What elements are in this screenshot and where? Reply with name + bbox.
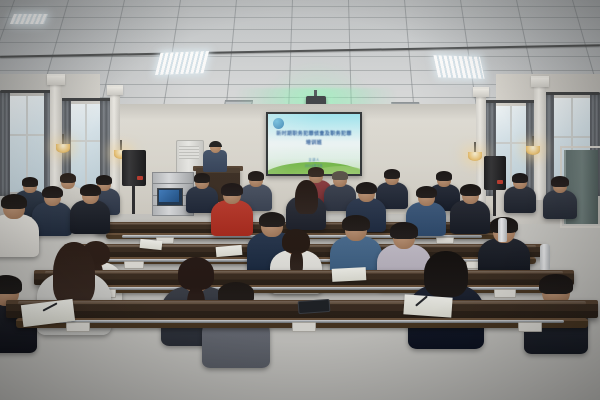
conference-hall-photo: 新时期职务犯罪侦查及职务犯罪 培训班 主讲人 2016年5月 bbox=[0, 0, 600, 400]
attendee-denim-blue-hair bbox=[342, 215, 369, 231]
attendee-back-11-body bbox=[543, 190, 577, 219]
attendee-dark-left-edge-hair bbox=[0, 275, 22, 295]
presenter-hair bbox=[209, 141, 222, 147]
attendee-back-3-hair bbox=[96, 175, 113, 185]
attendee-back-11-hair bbox=[551, 176, 569, 187]
attendee-navy-3-hair bbox=[356, 182, 377, 195]
attendee-suit-left-hair bbox=[42, 186, 63, 199]
wall-sconce-lamp bbox=[468, 152, 482, 161]
attendee-back-4-hair bbox=[194, 173, 211, 183]
attendee-right-edge-dark-hair bbox=[539, 274, 573, 294]
wall-pilaster bbox=[110, 88, 120, 204]
bench-nameplate bbox=[292, 322, 316, 332]
window-curtain bbox=[0, 92, 10, 196]
attendee-back-8-hair bbox=[384, 169, 401, 179]
window-mullion bbox=[550, 136, 594, 138]
pa-speaker-left bbox=[122, 150, 146, 186]
thermos-flask bbox=[540, 244, 550, 270]
window-mullion bbox=[494, 142, 528, 144]
attendee-dark-suit-2-hair bbox=[80, 184, 101, 197]
wall-pilaster bbox=[534, 80, 546, 200]
attendee-back-10-hair bbox=[512, 173, 529, 183]
wall-sconce-lamp bbox=[56, 144, 70, 153]
curtain-rod bbox=[538, 92, 600, 95]
bench-nameplate bbox=[66, 322, 90, 332]
ceiling-light-fixture bbox=[433, 55, 484, 79]
attendee-woman-dark-bob-hair bbox=[424, 251, 468, 297]
attendee-back-9-hair bbox=[436, 171, 453, 181]
attendee-woman-dark-hair-3-hair bbox=[295, 180, 318, 214]
attendee-right-3-body bbox=[450, 200, 490, 234]
speaker-stand bbox=[493, 190, 496, 216]
speaker-brand-logo-icon bbox=[497, 180, 503, 184]
attendee-back-7-hair bbox=[332, 171, 349, 180]
paper-sheet bbox=[332, 267, 367, 282]
attendee-red-shirt-hair bbox=[221, 183, 243, 196]
pilaster-capital bbox=[47, 74, 65, 85]
attendee-back-10-body bbox=[504, 186, 536, 213]
attendee-woman-white-jacket-hair bbox=[53, 242, 96, 305]
attendee-blue-3-hair bbox=[416, 186, 437, 199]
attendee-back-1-hair bbox=[22, 177, 39, 187]
attendee-back-2-hair bbox=[60, 173, 77, 183]
attendee-dark-suit-2-body bbox=[70, 200, 110, 234]
speaker-brand-logo-icon bbox=[137, 176, 143, 180]
presenter-body bbox=[203, 150, 227, 172]
bench-nameplate bbox=[518, 322, 542, 332]
pilaster-capital bbox=[531, 76, 549, 87]
thermos-flask bbox=[498, 218, 507, 242]
desk-gloss bbox=[45, 271, 563, 274]
curtain-rod bbox=[482, 100, 540, 103]
mobile-phone bbox=[298, 299, 331, 314]
curtain-rod bbox=[58, 98, 116, 101]
window-mullion bbox=[85, 104, 87, 188]
paper-sheet bbox=[403, 294, 452, 317]
speaker-stand bbox=[132, 186, 135, 214]
attendee-right-3-hair bbox=[460, 184, 481, 197]
slide-surface: 新时期职务犯罪侦查及职务犯罪 培训班 主讲人 2016年5月 bbox=[268, 114, 360, 174]
attendee-back-6-hair bbox=[308, 167, 324, 177]
attendee-back-5-hair bbox=[248, 171, 265, 181]
bench-nameplate bbox=[494, 289, 516, 298]
ceiling-light-fixture bbox=[155, 51, 209, 75]
rack-monitor-screen bbox=[159, 190, 179, 202]
attendee-white-shirt-left-body bbox=[0, 214, 39, 257]
pilaster-capital bbox=[107, 85, 123, 95]
attendee-white-shirt-left-hair bbox=[1, 194, 27, 210]
window-mullion bbox=[68, 140, 104, 142]
bench-nameplate bbox=[124, 261, 144, 269]
table-row bbox=[34, 270, 574, 285]
air-conditioner-grille bbox=[179, 146, 199, 159]
pa-speaker-right bbox=[484, 156, 506, 190]
pilaster-capital bbox=[473, 87, 489, 97]
attendee-red-shirt-body bbox=[211, 200, 253, 236]
slide-sheen bbox=[268, 114, 360, 174]
bench-nameplate bbox=[436, 237, 454, 244]
attendee-navy-center-hair bbox=[259, 212, 285, 228]
attendee-woman-ponytail-center-hair bbox=[178, 257, 215, 290]
attendee-lavender-shirt-hair bbox=[390, 222, 418, 239]
wall-sconce-lamp bbox=[526, 146, 540, 155]
ceiling-light-fixture bbox=[10, 14, 48, 24]
